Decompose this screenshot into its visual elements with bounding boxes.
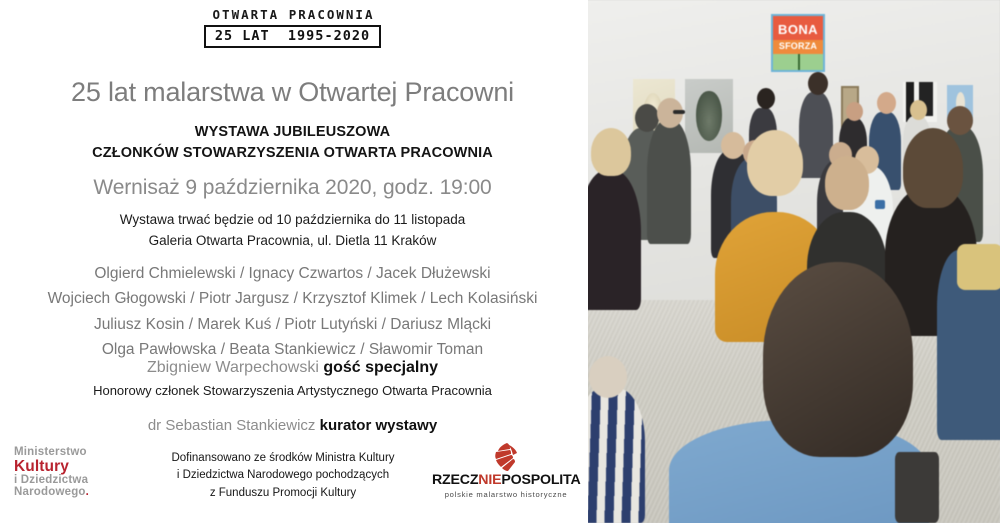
person-fg-striped [585, 388, 645, 523]
rzecz-part-2: NIE [478, 472, 501, 488]
special-guest-block: Zbigniew Warpechowski gość specjalny Hon… [0, 357, 585, 398]
person-fg-left-head [591, 128, 631, 176]
subtitle-block: WYSTAWA JUBILEUSZOWA CZŁONKÓW STOWARZYSZ… [0, 122, 585, 163]
gallery-opening-photo: BONA SFORZA [585, 0, 1000, 523]
ministry-of-culture-logo: Ministerstwo Kultury i Dziedzictwa Narod… [14, 446, 89, 499]
person-mid-2 [647, 120, 691, 244]
bona-sforza-canvas: BONA SFORZA [773, 16, 823, 70]
poster-text-panel: OTWARTA PRACOWNIA 25 LAT 1995-2020 25 la… [0, 0, 585, 523]
poster-root: OTWARTA PRACOWNIA 25 LAT 1995-2020 25 la… [0, 0, 1000, 523]
ministry-logo-dot: . [86, 486, 89, 498]
rzecz-part-1: RZECZ [432, 472, 478, 488]
page-title: 25 lat malarstwa w Otwartej Pracowni [0, 77, 585, 108]
photo-scene: BONA SFORZA [585, 0, 1000, 523]
exhibition-venue: Galeria Otwarta Pracownia, ul. Dietla 11… [0, 231, 585, 252]
person-fg-striped-head [589, 356, 627, 398]
funding-line-1: Dofinansowano ze środków Ministra Kultur… [133, 450, 433, 467]
rzeczniepospolita-tagline: polskie malarstwo historyczne [432, 490, 580, 499]
artists-line-2: Wojciech Głogowski / Piotr Jargusz / Krz… [0, 286, 585, 311]
bona-text-line-1: BONA [773, 23, 823, 36]
person-bg-1-head [757, 88, 775, 109]
ministry-logo-line-4: Narodowego. [14, 486, 89, 499]
person-fg-right-edge-bag [957, 244, 1000, 290]
person-fg-left [585, 170, 641, 310]
person-bg-2-head [808, 72, 828, 95]
person-fg-long-hair-head [903, 128, 963, 208]
person-bg-speaker-head [877, 92, 896, 114]
funding-line-2: i Dziedzictwa Narodowego pochodzących [133, 467, 433, 484]
exhibition-details: Wystawa trwać będzie od 10 października … [0, 210, 585, 252]
stamp-top-text: OTWARTA PRACOWNIA [211, 8, 375, 22]
person-mid-3-head [721, 132, 745, 159]
bona-stem [798, 54, 800, 70]
person-fg-yellow-hood-head [747, 130, 803, 196]
rzeczniepospolita-wordmark: RZECZNIEPOSPOLITA [432, 473, 580, 487]
bona-text-line-2: SFORZA [773, 42, 823, 51]
subtitle-line-1: WYSTAWA JUBILEUSZOWA [0, 122, 585, 143]
subtitle-line-2: CZŁONKÓW STOWARZYSZENIA OTWARTA PRACOWNI… [0, 143, 585, 164]
rzecz-part-3: POSPOLITA [501, 472, 580, 488]
artists-list: Olgierd Chmielewski / Ignacy Czwartos / … [0, 261, 585, 362]
exhibition-dates: Wystawa trwać będzie od 10 października … [0, 210, 585, 231]
person-fg-dark-center-head [825, 156, 869, 210]
artists-line-1: Olgierd Chmielewski / Ignacy Czwartos / … [0, 261, 585, 286]
curator-name: dr Sebastian Stankiewicz [148, 417, 316, 434]
special-guest-name: Zbigniew Warpechowski [147, 359, 319, 376]
person-mid-6-head [947, 106, 973, 135]
curator-block: dr Sebastian Stankiewicz kurator wystawy [0, 416, 585, 436]
artwork-bona-sforza: BONA SFORZA [771, 14, 825, 72]
person-fg-bag-strap [895, 452, 939, 523]
funding-statement: Dofinansowano ze środków Ministra Kultur… [133, 450, 433, 502]
person-fg-blue-sweater-head [763, 262, 913, 457]
badge-icon [875, 200, 885, 209]
stamp-years-box: 25 LAT 1995-2020 [204, 25, 381, 48]
poster-footer: Ministerstwo Kultury i Dziedzictwa Narod… [0, 438, 585, 523]
special-guest-note: Honorowy członek Stowarzyszenia Artystyc… [0, 383, 585, 398]
artists-line-3: Juliusz Kosin / Marek Kuś / Piotr Lutyńs… [0, 312, 585, 337]
ministry-logo-line-4-text: Narodowego [14, 486, 86, 498]
person-bg-4-head [910, 100, 927, 120]
funding-line-3: z Funduszu Promocji Kultury [133, 485, 433, 502]
ministry-logo-line-2: Kultury [14, 458, 89, 475]
glasses-icon [673, 110, 685, 114]
rzeczniepospolita-logo: RZECZNIEPOSPOLITA polskie malarstwo hist… [432, 442, 580, 499]
brush-stroke-icon [432, 442, 580, 472]
ministry-logo-line-1: Ministerstwo [14, 446, 89, 459]
curator-role: kurator wystawy [320, 417, 438, 434]
special-guest-line: Zbigniew Warpechowski gość specjalny [0, 357, 585, 379]
anniversary-stamp-logo: OTWARTA PRACOWNIA 25 LAT 1995-2020 [0, 8, 585, 48]
special-guest-role: gość specjalny [323, 359, 438, 376]
person-bg-3-head [846, 102, 863, 121]
vernissage-heading: Wernisaż 9 października 2020, godz. 19:0… [0, 176, 585, 200]
